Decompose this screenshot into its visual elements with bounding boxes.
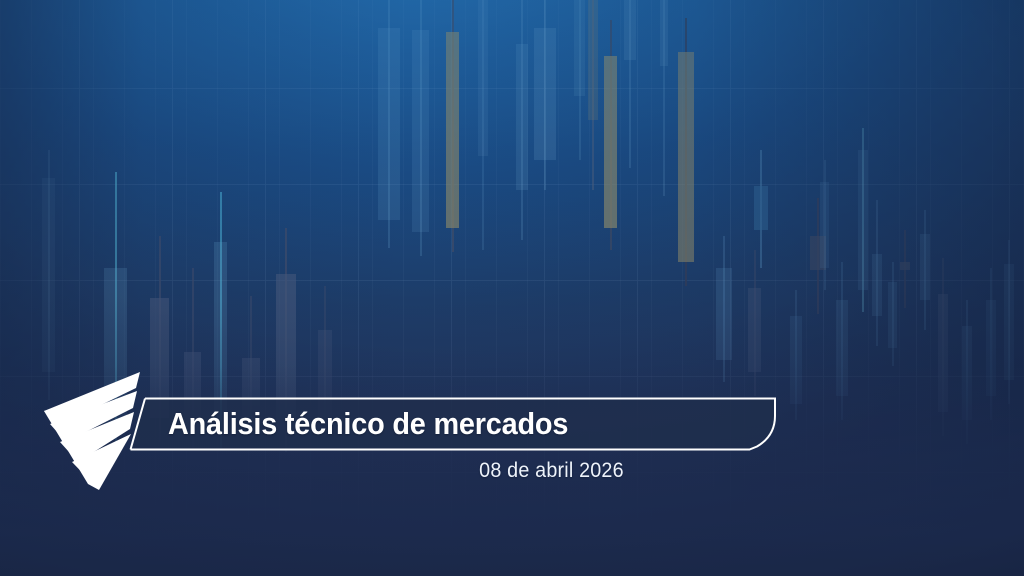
page-title: Análisis técnico de mercados [168,400,726,448]
slide-date: 08 de abril 2026 [31,459,994,483]
title-slide: Análisis técnico de mercados 08 de abril… [0,0,1024,576]
